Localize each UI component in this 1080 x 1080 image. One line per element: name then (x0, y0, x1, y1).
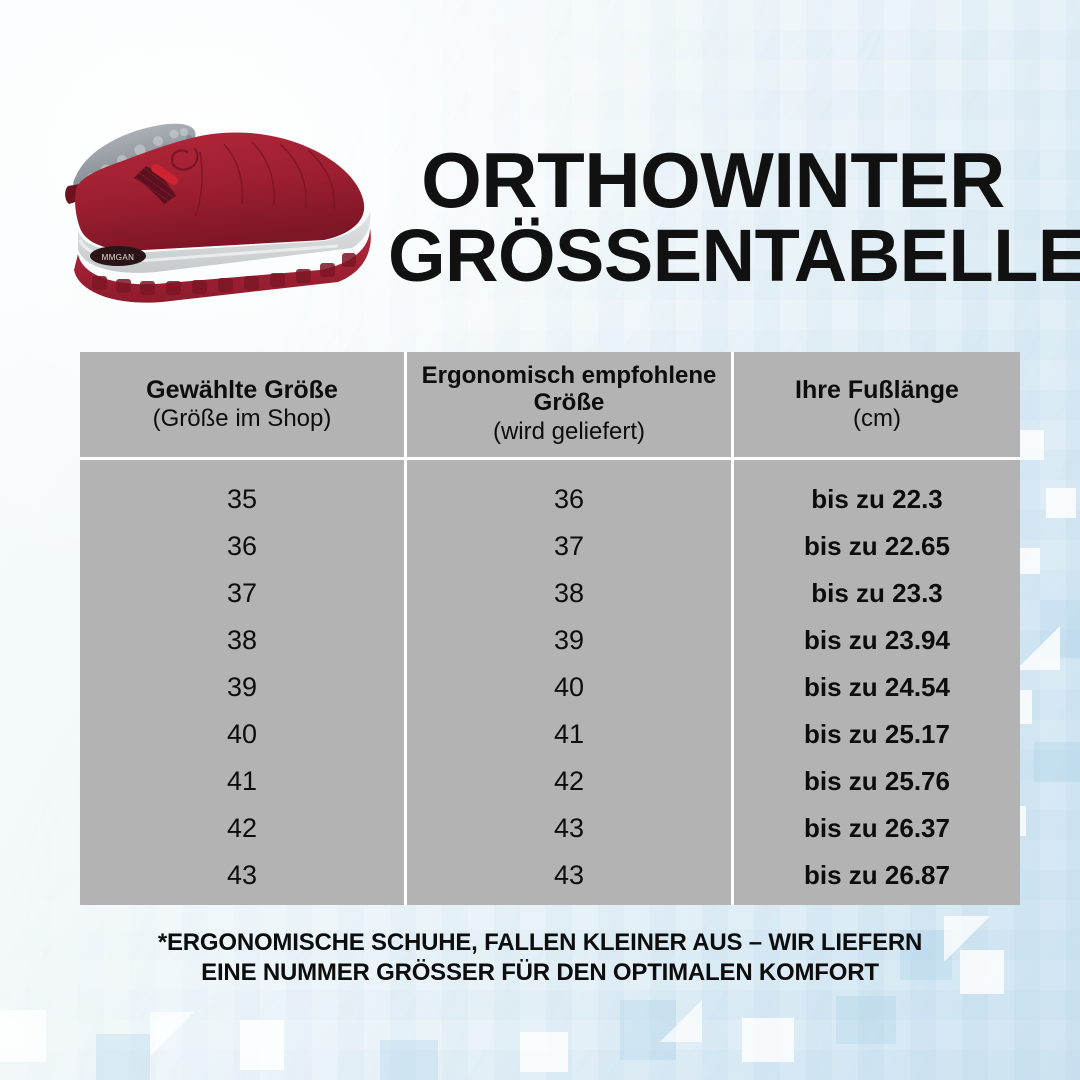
header-sub-text: (wird geliefert) (493, 418, 645, 446)
svg-text:MMGAN: MMGAN (102, 253, 135, 262)
table-column-recommended-size: Ergonomisch empfohlene Größe (wird gelie… (407, 352, 731, 905)
table-cell: 37 (80, 570, 404, 617)
table-cell: bis zu 25.17 (734, 711, 1020, 758)
table-body-foot-length: bis zu 22.3 bis zu 22.65 bis zu 23.3 bis… (734, 460, 1020, 905)
table-cell: 38 (407, 570, 731, 617)
table-cell: 40 (80, 711, 404, 758)
table-cell: 42 (80, 805, 404, 852)
table-cell: 39 (407, 617, 731, 664)
table-header-foot-length: Ihre Fußlänge (cm) (734, 352, 1020, 460)
table-cell: bis zu 22.3 (734, 476, 1020, 523)
title-line-subject: GRÖSSENTABELLE (388, 220, 1038, 293)
boot-heel-badge: MMGAN (90, 246, 146, 266)
table-cell: 41 (407, 711, 731, 758)
table-body-chosen-size: 35 36 37 38 39 40 41 42 43 (80, 460, 404, 905)
table-cell: bis zu 22.65 (734, 523, 1020, 570)
footer-note-line-2: EINE NUMMER GRÖSSER FÜR DEN OPTIMALEN KO… (90, 958, 990, 988)
table-column-chosen-size: Gewählte Größe (Größe im Shop) 35 36 37 … (80, 352, 404, 905)
table-header-chosen-size: Gewählte Größe (Größe im Shop) (80, 352, 404, 460)
page-title: ORTHOWINTER GRÖSSENTABELLE (388, 142, 1038, 293)
header-sub-text: (Größe im Shop) (153, 405, 332, 433)
footer-note-line-1: *ERGONOMISCHE SCHUHE, FALLEN KLEINER AUS… (90, 928, 990, 958)
table-cell: bis zu 25.76 (734, 758, 1020, 805)
table-cell: bis zu 23.94 (734, 617, 1020, 664)
table-cell: 39 (80, 664, 404, 711)
size-table: Gewählte Größe (Größe im Shop) 35 36 37 … (80, 352, 1020, 905)
background-triangle (660, 1000, 702, 1042)
table-cell: 40 (407, 664, 731, 711)
header-main-text: Ihre Fußlänge (795, 376, 959, 404)
table-body-recommended-size: 36 37 38 39 40 41 42 43 43 (407, 460, 731, 905)
table-cell: 37 (407, 523, 731, 570)
table-cell: 43 (407, 805, 731, 852)
header-sub-text: (cm) (853, 405, 901, 433)
table-cell: 43 (80, 852, 404, 899)
table-cell: 36 (80, 523, 404, 570)
table-cell: 42 (407, 758, 731, 805)
table-cell: 43 (407, 852, 731, 899)
table-cell: bis zu 23.3 (734, 570, 1020, 617)
background-triangle (150, 1012, 194, 1056)
table-cell: 38 (80, 617, 404, 664)
header-main-text: Ergonomisch empfohlene Größe (415, 363, 723, 417)
footer-note: *ERGONOMISCHE SCHUHE, FALLEN KLEINER AUS… (90, 928, 990, 988)
size-chart-poster: MMGAN ORTHOWINTER GRÖSSENTABELLE Gewählt… (0, 0, 1080, 1080)
table-cell: bis zu 26.87 (734, 852, 1020, 899)
table-cell: 35 (80, 476, 404, 523)
header-main-text: Gewählte Größe (146, 376, 338, 404)
title-line-brand: ORTHOWINTER (388, 142, 1038, 218)
table-header-recommended-size: Ergonomisch empfohlene Größe (wird gelie… (407, 352, 731, 460)
table-column-foot-length: Ihre Fußlänge (cm) bis zu 22.3 bis zu 22… (734, 352, 1020, 905)
product-image: MMGAN (52, 104, 392, 324)
table-cell: 36 (407, 476, 731, 523)
table-cell: 41 (80, 758, 404, 805)
table-cell: bis zu 24.54 (734, 664, 1020, 711)
table-cell: bis zu 26.37 (734, 805, 1020, 852)
background-triangle (1016, 626, 1060, 670)
